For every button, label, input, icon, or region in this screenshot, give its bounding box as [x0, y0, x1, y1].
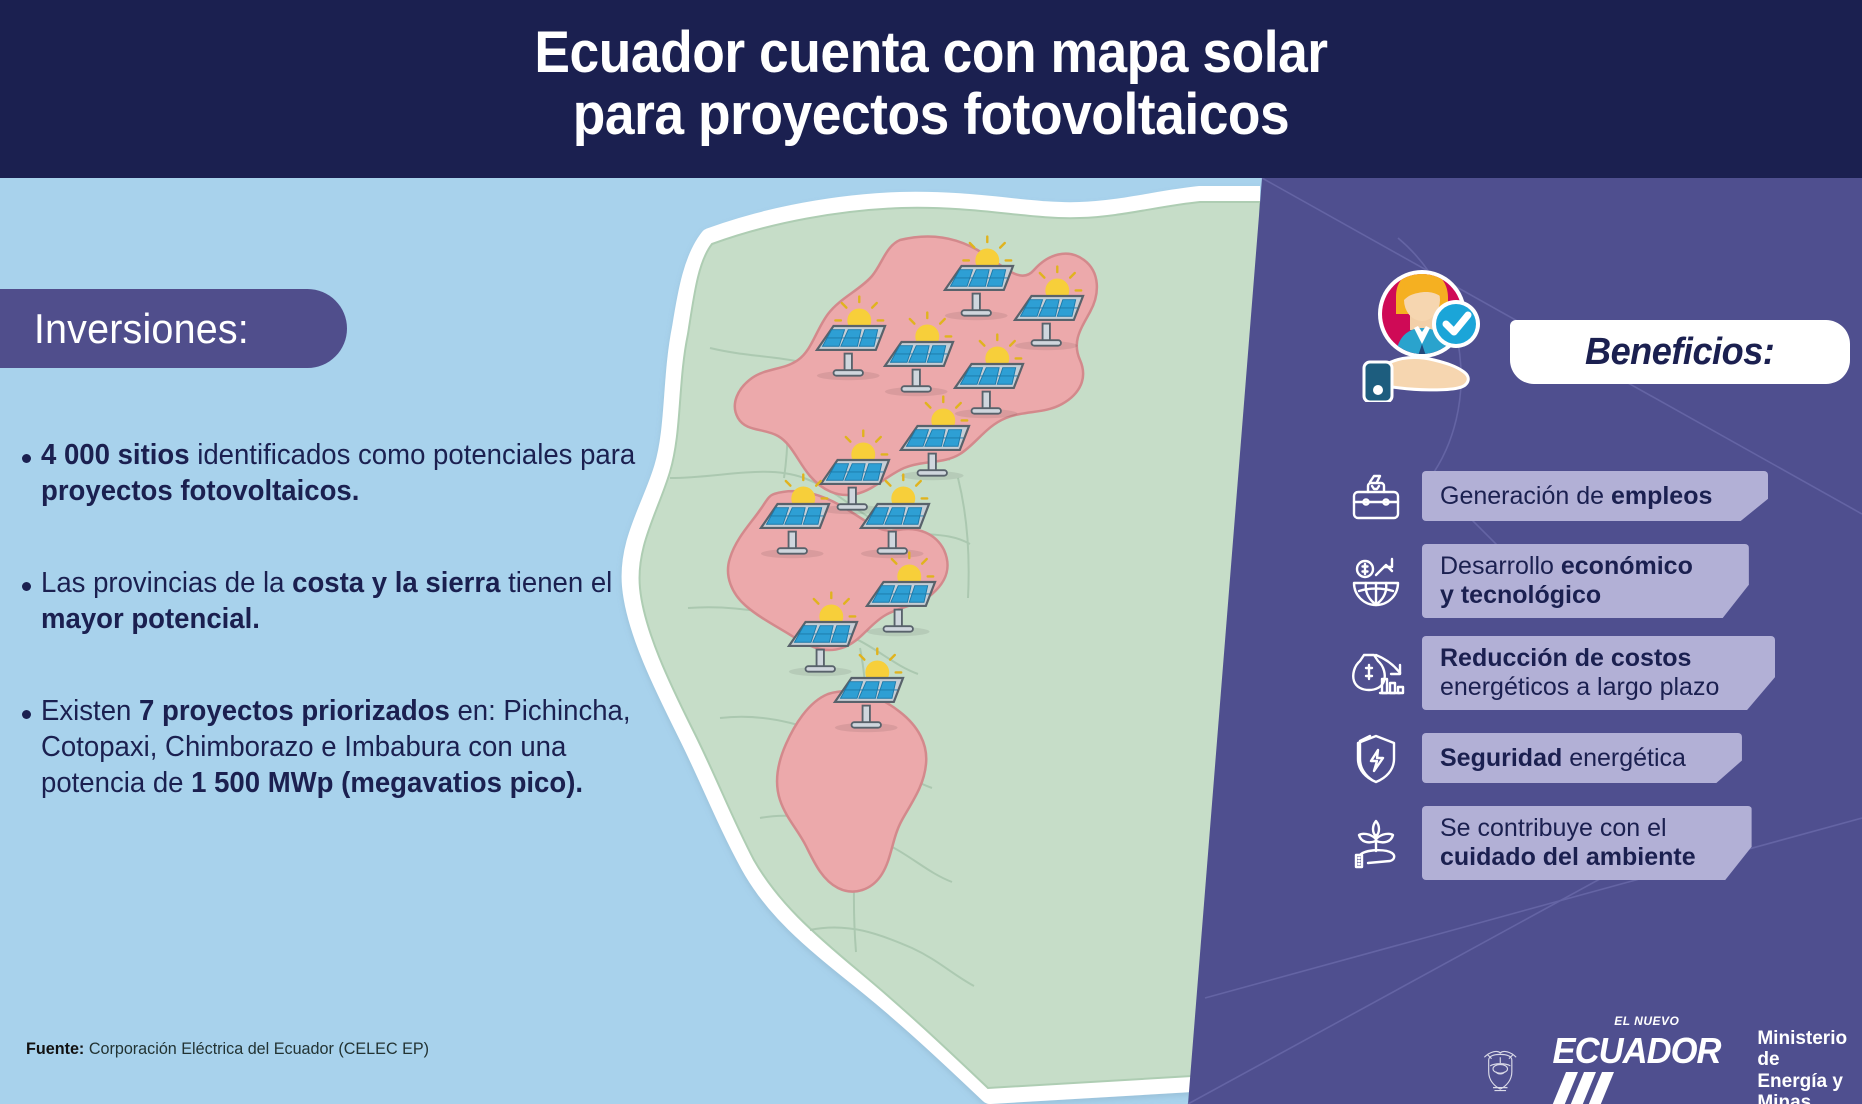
beneficios-badge: Beneficios: [1360, 262, 1860, 402]
brand-small-label: EL NUEVO [1614, 1014, 1679, 1028]
shield-bolt-icon [1330, 728, 1422, 788]
benefit-item-2: Desarrollo económicoy tecnológico [1330, 544, 1850, 618]
title-line-1: Ecuador cuenta con mapa solar [74, 22, 1787, 84]
inversiones-label: Inversiones: [0, 305, 249, 353]
benefit-label: Reducción de costosenergéticos a largo p… [1422, 636, 1775, 710]
title-line-2: para proyectos fotovoltaicos [74, 84, 1787, 146]
beneficios-plate: Beneficios: [1510, 320, 1850, 384]
inversiones-bullet-list: 4 000 sitios identificados como potencia… [22, 438, 702, 858]
ministry-line-1: Ministerio de [1757, 1028, 1862, 1071]
bullet-dot [22, 582, 31, 591]
el-nuevo-ecuador-logo: EL NUEVO ECUADOR [1549, 1030, 1726, 1104]
bullet-text: Existen 7 proyectos priorizados en: Pich… [41, 694, 669, 802]
page-title: Ecuador cuenta con mapa solar para proye… [74, 0, 1787, 146]
plant-in-hand-icon [1330, 813, 1422, 873]
benefit-item-1: Generación de empleos [1330, 466, 1850, 526]
benefit-label: Desarrollo económicoy tecnológico [1422, 544, 1749, 618]
benefit-item-3: Reducción de costosenergéticos a largo p… [1330, 636, 1850, 710]
briefcase-handshake-icon [1330, 466, 1422, 526]
bullet-text: Las provincias de la costa y la sierra t… [41, 566, 669, 638]
footer-logos: EL NUEVO ECUADOR Ministerio de Energía y… [1480, 1028, 1862, 1104]
bullet-dot [22, 710, 31, 719]
benefit-item-4: Seguridad energética [1330, 728, 1850, 788]
person-verified-in-hand-icon [1360, 262, 1520, 402]
source-label: Fuente: [26, 1039, 84, 1058]
benefit-item-5: Se contribuye con elcuidado del ambiente [1330, 806, 1850, 880]
beneficios-label: Beneficios: [1585, 331, 1774, 374]
inversiones-section-tab: Inversiones: [0, 289, 347, 368]
benefit-label: Generación de empleos [1422, 471, 1768, 521]
source-note: Fuente: Corporación Eléctrica del Ecuado… [26, 1039, 429, 1059]
money-bag-falling-chart-icon [1330, 643, 1422, 703]
benefit-label: Se contribuye con elcuidado del ambiente [1422, 806, 1752, 880]
bullet-provincias: Las provincias de la costa y la sierra t… [22, 566, 702, 638]
brand-main-label: ECUADOR [1552, 1030, 1720, 1072]
benefit-label: Seguridad energética [1422, 733, 1742, 783]
source-text: Corporación Eléctrica del Ecuador (CELEC… [89, 1039, 429, 1058]
three-slashes-icon [1552, 1072, 1614, 1104]
bullet-sitios: 4 000 sitios identificados como potencia… [22, 438, 702, 510]
ministry-line-2: Energía y Minas [1757, 1071, 1862, 1104]
bullet-proyectos: Existen 7 proyectos priorizados en: Pich… [22, 694, 702, 802]
infographic-page: Ecuador cuenta con mapa solar para proye… [0, 0, 1862, 1104]
ministry-label: Ministerio de Energía y Minas [1757, 1028, 1862, 1104]
bullet-text: 4 000 sitios identificados como potencia… [41, 438, 669, 510]
header-bar: Ecuador cuenta con mapa solar para proye… [0, 0, 1862, 178]
benefits-list: Generación de empleosDesarrollo económic… [1330, 466, 1850, 898]
ecuador-coat-of-arms-icon [1480, 1038, 1521, 1104]
globe-dollar-growth-icon [1330, 551, 1422, 611]
bullet-dot [22, 454, 31, 463]
